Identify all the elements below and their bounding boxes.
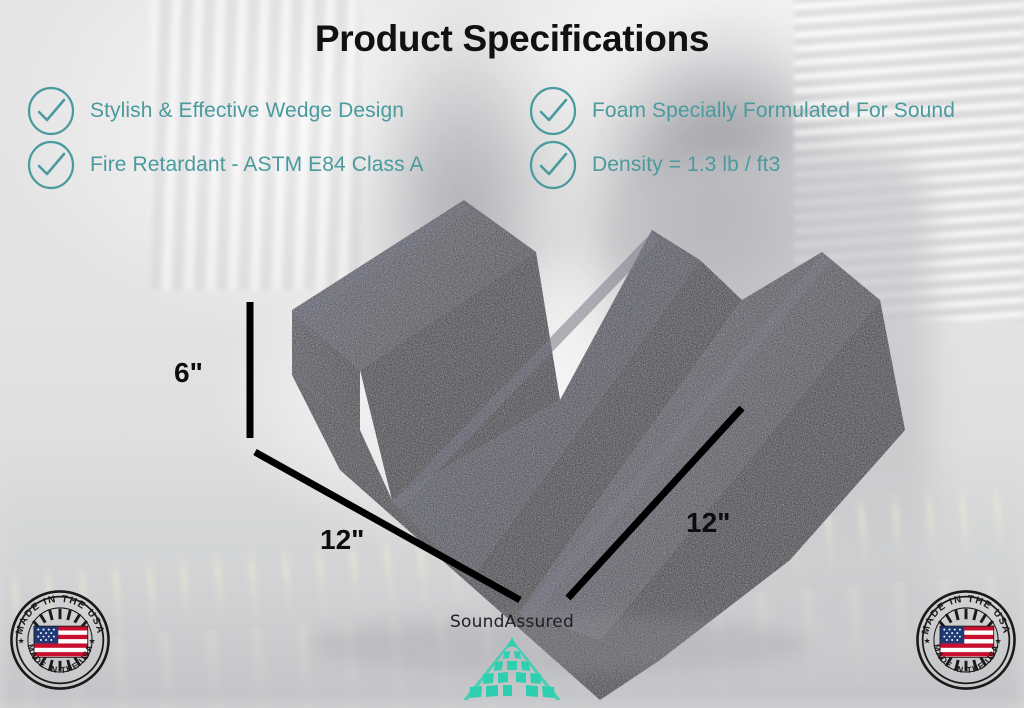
- svg-text:★: ★: [995, 636, 1002, 645]
- dimension-annotations: 6" 12" 12": [0, 0, 1024, 708]
- dimension-label-width: 12": [320, 524, 364, 556]
- product-spec-graphic: Product Specifications Stylish & Effecti…: [0, 0, 1024, 708]
- svg-text:★: ★: [18, 636, 25, 645]
- dimension-line-width: [255, 452, 520, 600]
- pyramid-grid-logo-icon: [432, 634, 592, 708]
- dimension-label-depth: 12": [686, 507, 730, 539]
- dimension-line-depth: [568, 408, 742, 598]
- svg-text:★: ★: [924, 636, 931, 645]
- brand-name: SoundAssured: [432, 612, 592, 632]
- made-in-usa-seal-left: MADE IN THE USA MADE IN THE USA ★ ★: [8, 588, 112, 692]
- svg-text:★: ★: [89, 636, 96, 645]
- dimension-label-height: 6": [174, 357, 203, 389]
- brand-logo: SoundAssured: [432, 612, 592, 708]
- made-in-usa-seal-right: MADE IN THE USA MADE IN THE USA ★ ★: [914, 588, 1018, 692]
